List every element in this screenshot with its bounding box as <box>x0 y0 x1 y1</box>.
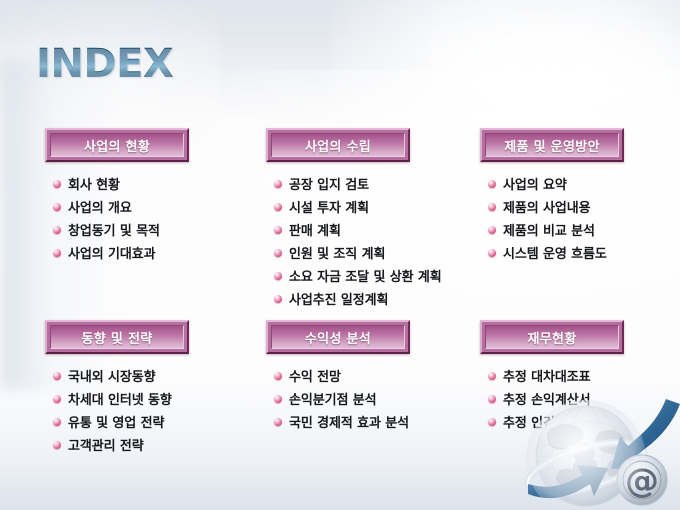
list-item[interactable]: 제품의 사업내용 <box>488 195 607 218</box>
bullet-icon <box>53 203 61 211</box>
section-header-label: 사업의 현황 <box>84 136 150 155</box>
list-item-label: 손익분기점 분석 <box>289 389 376 408</box>
bullet-icon <box>488 418 496 426</box>
list-item-label: 제품의 비교 분석 <box>503 220 595 239</box>
list-item-label: 판매 계획 <box>289 220 341 239</box>
list-item-label: 제품의 사업내용 <box>503 197 590 216</box>
list-item[interactable]: 공장 입지 검토 <box>274 172 442 195</box>
section-product-operation: 제품 및 운영방안 사업의 요약 제품의 사업내용 제품의 비교 분석 시스템 … <box>480 128 624 162</box>
list-item[interactable]: 사업의 개요 <box>53 195 160 218</box>
list-item-label: 사업추진 일정계획 <box>289 289 388 308</box>
section-business-establishment: 사업의 수립 공장 입지 검토 시설 투자 계획 판매 계획 인원 및 조직 계… <box>266 128 410 162</box>
list-item-label: 국내외 시장동향 <box>68 366 155 385</box>
bullet-icon <box>53 441 61 449</box>
list-item[interactable]: 손익분기점 분석 <box>274 387 409 410</box>
list-item[interactable]: 제품의 비교 분석 <box>488 218 607 241</box>
bullet-icon <box>488 249 496 257</box>
section-header-profitability-analysis[interactable]: 수익성 분석 <box>266 320 410 354</box>
list-item[interactable]: 국민 경제적 효과 분석 <box>274 410 409 433</box>
section-header-product-operation[interactable]: 제품 및 운영방안 <box>480 128 624 162</box>
plate-inner: 재무현황 <box>485 325 619 349</box>
list-item-label: 시스템 운영 흐름도 <box>503 243 607 262</box>
section-item-list: 수익 전망 손익분기점 분석 국민 경제적 효과 분석 <box>274 364 409 433</box>
list-item[interactable]: 시스템 운영 흐름도 <box>488 241 607 264</box>
list-item-label: 수익 전망 <box>289 366 341 385</box>
list-item-label: 창업동기 및 목적 <box>68 220 160 239</box>
bullet-icon <box>274 180 282 188</box>
section-item-list: 회사 현황 사업의 개요 창업동기 및 목적 사업의 기대효과 <box>53 172 160 264</box>
list-item-label: 공장 입지 검토 <box>289 174 369 193</box>
section-item-list: 공장 입지 검토 시설 투자 계획 판매 계획 인원 및 조직 계획 소요 자금… <box>274 172 442 310</box>
bullet-icon <box>488 226 496 234</box>
globe-decoration: @ <box>508 398 680 510</box>
presentation-slide: INDEX INDEX 사업의 현황 회사 현황 사업의 개요 창업동기 및 목… <box>0 0 680 510</box>
bullet-icon <box>274 226 282 234</box>
section-header-business-establishment[interactable]: 사업의 수립 <box>266 128 410 162</box>
plate-inner: 사업의 현황 <box>50 133 184 157</box>
bullet-icon <box>53 180 61 188</box>
list-item-label: 고객관리 전략 <box>68 435 144 454</box>
list-item[interactable]: 사업추진 일정계획 <box>274 287 442 310</box>
list-item[interactable]: 고객관리 전략 <box>53 433 172 456</box>
section-item-list: 사업의 요약 제품의 사업내용 제품의 비교 분석 시스템 운영 흐름도 <box>488 172 607 264</box>
list-item-label: 국민 경제적 효과 분석 <box>289 412 409 431</box>
section-header-label: 제품 및 운영방안 <box>504 136 599 155</box>
section-header-label: 동향 및 전략 <box>82 328 153 347</box>
bullet-icon <box>53 418 61 426</box>
section-item-list: 국내외 시장동향 차세대 인터넷 동향 유통 및 영업 전략 고객관리 전략 <box>53 364 172 456</box>
page-title: INDEX <box>36 44 173 84</box>
bullet-icon <box>53 395 61 403</box>
section-profitability-analysis: 수익성 분석 수익 전망 손익분기점 분석 국민 경제적 효과 분석 <box>266 320 410 354</box>
list-item-label: 시설 투자 계획 <box>289 197 369 216</box>
list-item[interactable]: 추정 대차대조표 <box>488 364 607 387</box>
bullet-icon <box>488 203 496 211</box>
list-item[interactable]: 차세대 인터넷 동향 <box>53 387 172 410</box>
list-item[interactable]: 시설 투자 계획 <box>274 195 442 218</box>
globe-glow <box>526 400 646 510</box>
section-header-trend-strategy[interactable]: 동향 및 전략 <box>45 320 189 354</box>
list-item[interactable]: 유통 및 영업 전략 <box>53 410 172 433</box>
list-item-label: 사업의 요약 <box>503 174 567 193</box>
section-header-label: 사업의 수립 <box>305 136 371 155</box>
list-item-label: 추정 대차대조표 <box>503 366 590 385</box>
bullet-icon <box>274 249 282 257</box>
section-trend-strategy: 동향 및 전략 국내외 시장동향 차세대 인터넷 동향 유통 및 영업 전략 고… <box>45 320 189 354</box>
plate-inner: 제품 및 운영방안 <box>485 133 619 157</box>
list-item[interactable]: 사업의 요약 <box>488 172 607 195</box>
bullet-icon <box>274 295 282 303</box>
plate-inner: 사업의 수립 <box>271 133 405 157</box>
bullet-icon <box>488 180 496 188</box>
bullet-icon <box>274 395 282 403</box>
bullet-icon <box>274 372 282 380</box>
section-financial-status: 재무현황 추정 대차대조표 추정 손익계산서 추정 인건비 명세서 <box>480 320 624 354</box>
bullet-icon <box>488 395 496 403</box>
section-header-label: 재무현황 <box>527 328 576 347</box>
bullet-icon <box>488 372 496 380</box>
bullet-icon <box>274 418 282 426</box>
list-item[interactable]: 판매 계획 <box>274 218 442 241</box>
list-item-label: 소요 자금 조달 및 상환 계획 <box>289 266 442 285</box>
bullet-icon <box>53 226 61 234</box>
bullet-icon <box>274 272 282 280</box>
list-item[interactable]: 창업동기 및 목적 <box>53 218 160 241</box>
list-item[interactable]: 사업의 기대효과 <box>53 241 160 264</box>
bullet-icon <box>274 203 282 211</box>
list-item-label: 사업의 개요 <box>68 197 132 216</box>
section-header-business-status[interactable]: 사업의 현황 <box>45 128 189 162</box>
list-item[interactable]: 회사 현황 <box>53 172 160 195</box>
list-item-label: 차세대 인터넷 동향 <box>68 389 172 408</box>
section-business-status: 사업의 현황 회사 현황 사업의 개요 창업동기 및 목적 사업의 기대효과 <box>45 128 189 162</box>
list-item-label: 회사 현황 <box>68 174 120 193</box>
list-item-label: 사업의 기대효과 <box>68 243 155 262</box>
bullet-icon <box>53 372 61 380</box>
list-item-label: 인원 및 조직 계획 <box>289 243 385 262</box>
list-item[interactable]: 소요 자금 조달 및 상환 계획 <box>274 264 442 287</box>
list-item[interactable]: 수익 전망 <box>274 364 409 387</box>
list-item[interactable]: 국내외 시장동향 <box>53 364 172 387</box>
plate-inner: 동향 및 전략 <box>50 325 184 349</box>
section-header-label: 수익성 분석 <box>305 328 371 347</box>
bullet-icon <box>53 249 61 257</box>
plate-inner: 수익성 분석 <box>271 325 405 349</box>
list-item[interactable]: 인원 및 조직 계획 <box>274 241 442 264</box>
list-item-label: 유통 및 영업 전략 <box>68 412 164 431</box>
section-header-financial-status[interactable]: 재무현황 <box>480 320 624 354</box>
